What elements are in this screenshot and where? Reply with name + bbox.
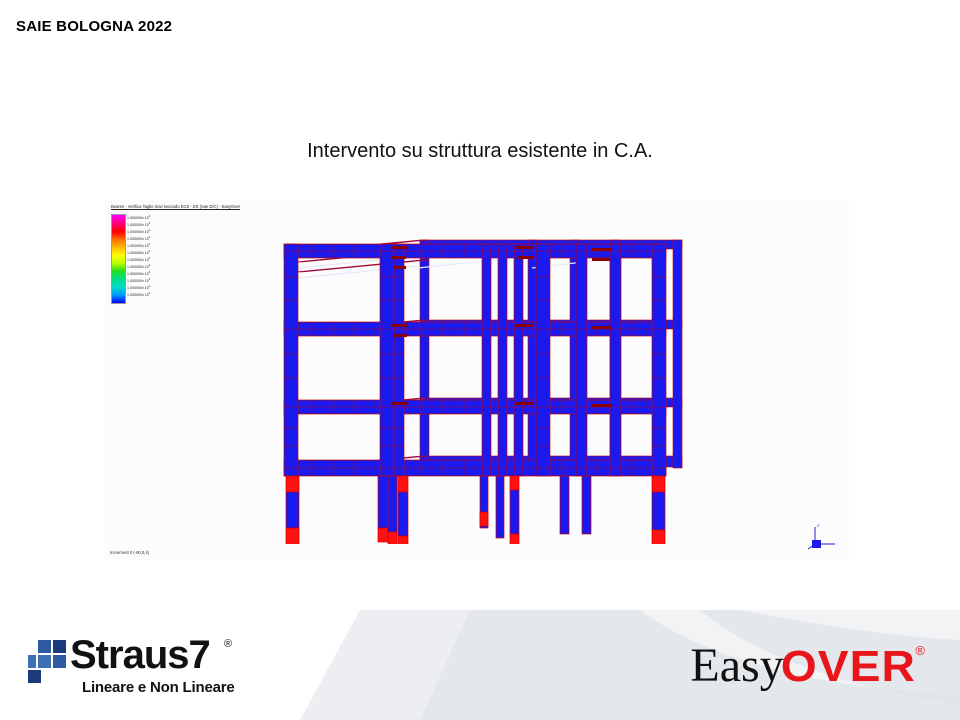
legend-label: 1.000000x 100 [127, 271, 150, 277]
legend-label: 1.000000x 100 [127, 278, 150, 284]
easyover-wordmark-over: OVER [780, 645, 915, 689]
legend-label: 1.000000x 100 [127, 243, 150, 249]
legend-label: 1.000000x 100 [127, 257, 150, 263]
page-title: Intervento su struttura esistente in C.A… [0, 140, 960, 163]
fea-model-viewport[interactable]: Beams - Verifica Taglio travi secondo EC… [105, 200, 849, 560]
grid-square [38, 655, 51, 668]
legend-label: 1.000000x 100 [127, 215, 150, 221]
grid-square [28, 655, 36, 668]
structure-model[interactable] [270, 222, 690, 544]
registered-trademark-icon: ® [915, 643, 925, 658]
legend-label: 1.000000x 100 [127, 285, 150, 291]
easyover-logo: Easy OVER ® [690, 642, 922, 698]
easyover-wordmark-easy: Easy [690, 642, 783, 690]
legend-label: 1.000000x 100 [127, 222, 150, 228]
straus7-wordmark: Straus7 [70, 632, 210, 678]
axis-triad-icon: Z [805, 522, 841, 552]
increment-status-text: Increment 0 (-90,0,4) [110, 550, 149, 555]
contour-legend: 1.000000x 100 1.000000x 100 1.000000x 10… [111, 214, 173, 306]
legend-label: 1.000000x 100 [127, 250, 150, 256]
legend-colorbar [111, 214, 126, 304]
slide-header: SAIE BOLOGNA 2022 [16, 18, 172, 35]
grid-square [38, 640, 51, 653]
grid-square [53, 640, 66, 653]
legend-label: 1.000000x 100 [127, 264, 150, 270]
straus7-grid-icon [28, 640, 68, 682]
registered-trademark-icon: ® [224, 638, 232, 650]
grid-square [28, 670, 41, 683]
svg-text:Z: Z [817, 523, 820, 528]
structure-model-svg [270, 222, 690, 544]
legend-label: 1.000000x 100 [127, 292, 150, 298]
straus7-tagline: Lineare e Non Lineare [82, 679, 235, 696]
legend-label: 1.000000x 100 [127, 229, 150, 235]
grid-square [53, 655, 66, 668]
straus7-logo: Straus7 ® Lineare e Non Lineare [28, 636, 248, 698]
legend-label: 1.000000x 100 [127, 236, 150, 242]
viewport-title: Beams - Verifica Taglio travi secondo EC… [111, 204, 240, 209]
